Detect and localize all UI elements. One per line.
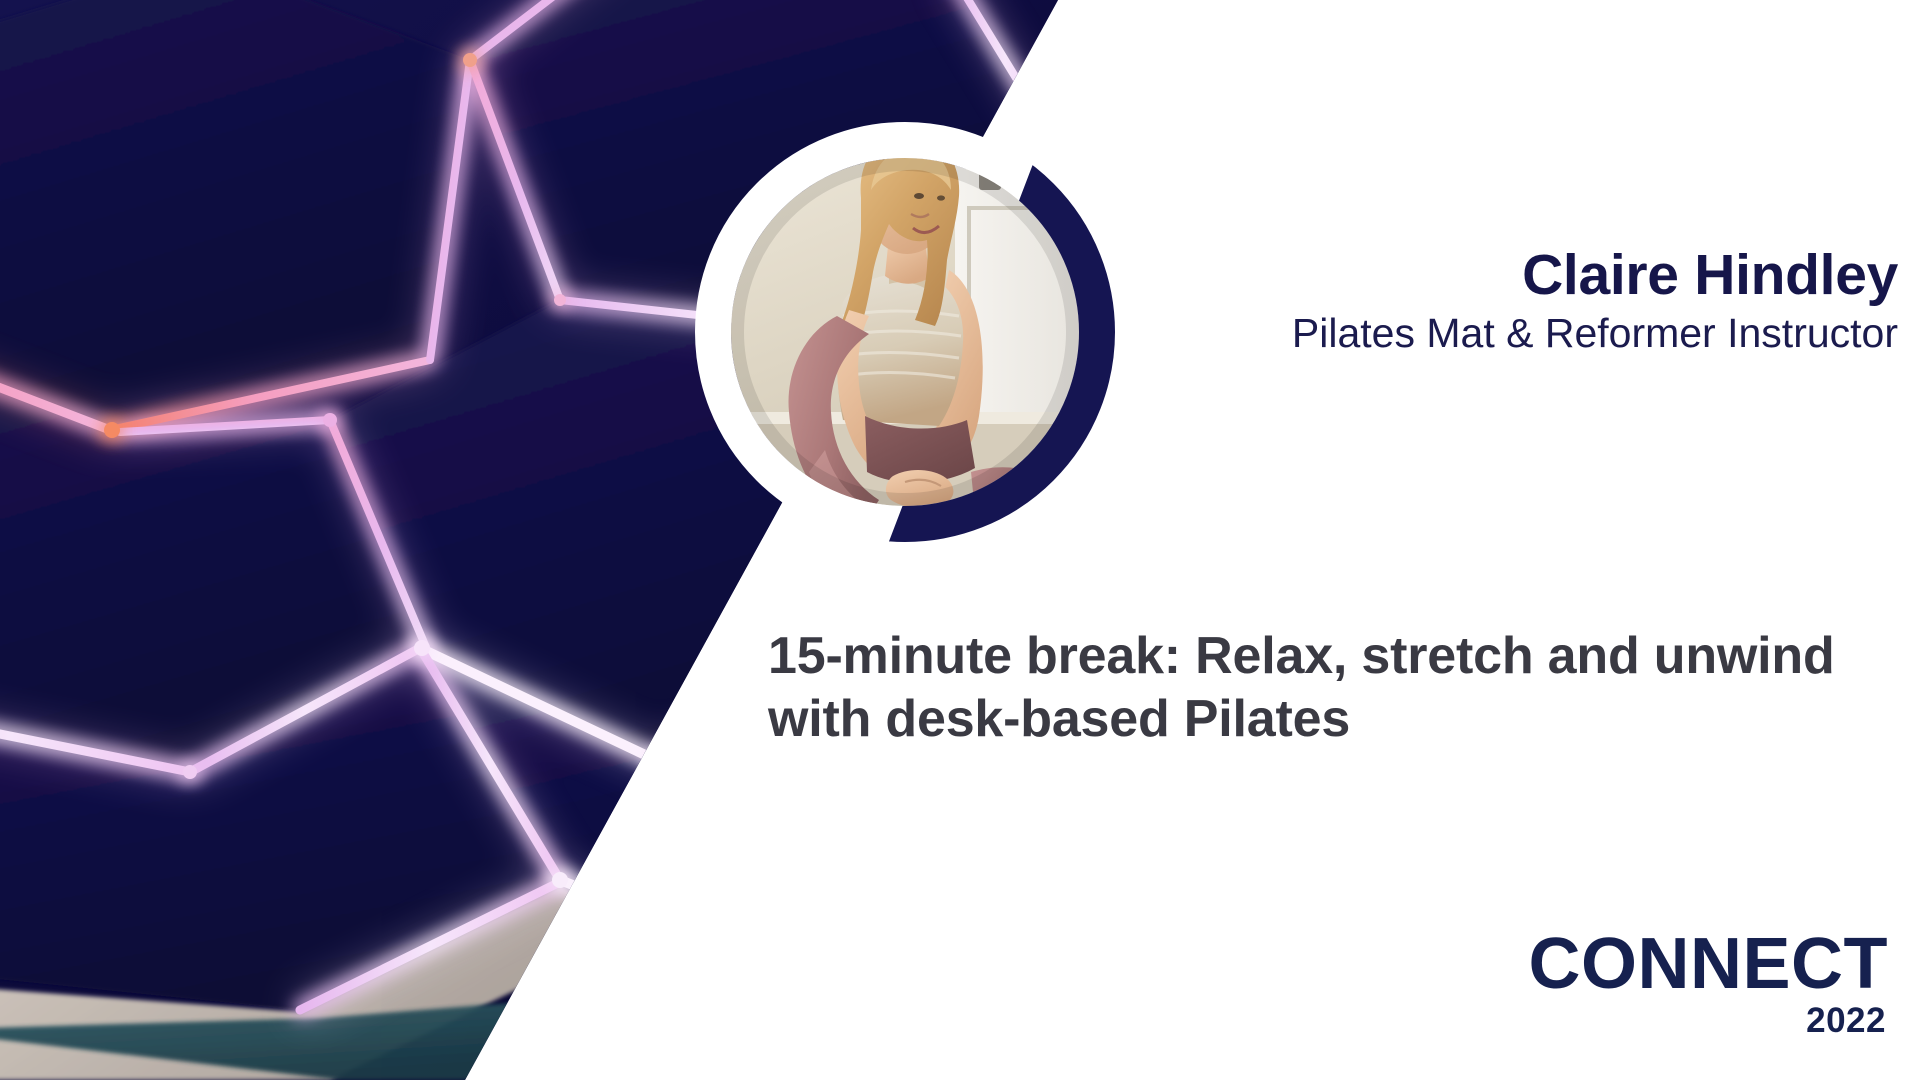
session-title: 15-minute break: Relax, stretch and unwi… — [768, 625, 1898, 752]
presentation-slide: Claire Hindley Pilates Mat & Reformer In… — [0, 0, 1920, 1080]
speaker-role: Pilates Mat & Reformer Instructor — [998, 311, 1898, 357]
connect-wordmark: CONNECT — [1529, 931, 1889, 999]
speaker-info: Claire Hindley Pilates Mat & Reformer In… — [998, 246, 1898, 357]
speaker-name: Claire Hindley — [998, 246, 1898, 305]
connect-logo: CONNECT 2022 — [1529, 931, 1889, 1038]
connect-year: 2022 — [1529, 1003, 1887, 1038]
